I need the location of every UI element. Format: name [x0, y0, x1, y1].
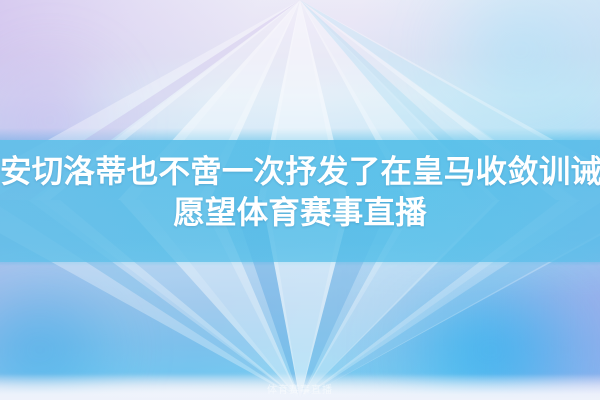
promo-banner: 安切洛蒂也不啻一次抒发了在皇马收敛训诫糊口的 愿望体育赛事直播 体育赛事直播: [0, 0, 600, 400]
headline-line-2: 愿望体育赛事直播: [0, 193, 600, 234]
headline-line-1: 安切洛蒂也不啻一次抒发了在皇马收敛训诫糊口的: [0, 152, 600, 193]
headline: 安切洛蒂也不啻一次抒发了在皇马收敛训诫糊口的 愿望体育赛事直播: [0, 152, 600, 234]
watermark-text: 体育赛事直播: [0, 381, 600, 396]
